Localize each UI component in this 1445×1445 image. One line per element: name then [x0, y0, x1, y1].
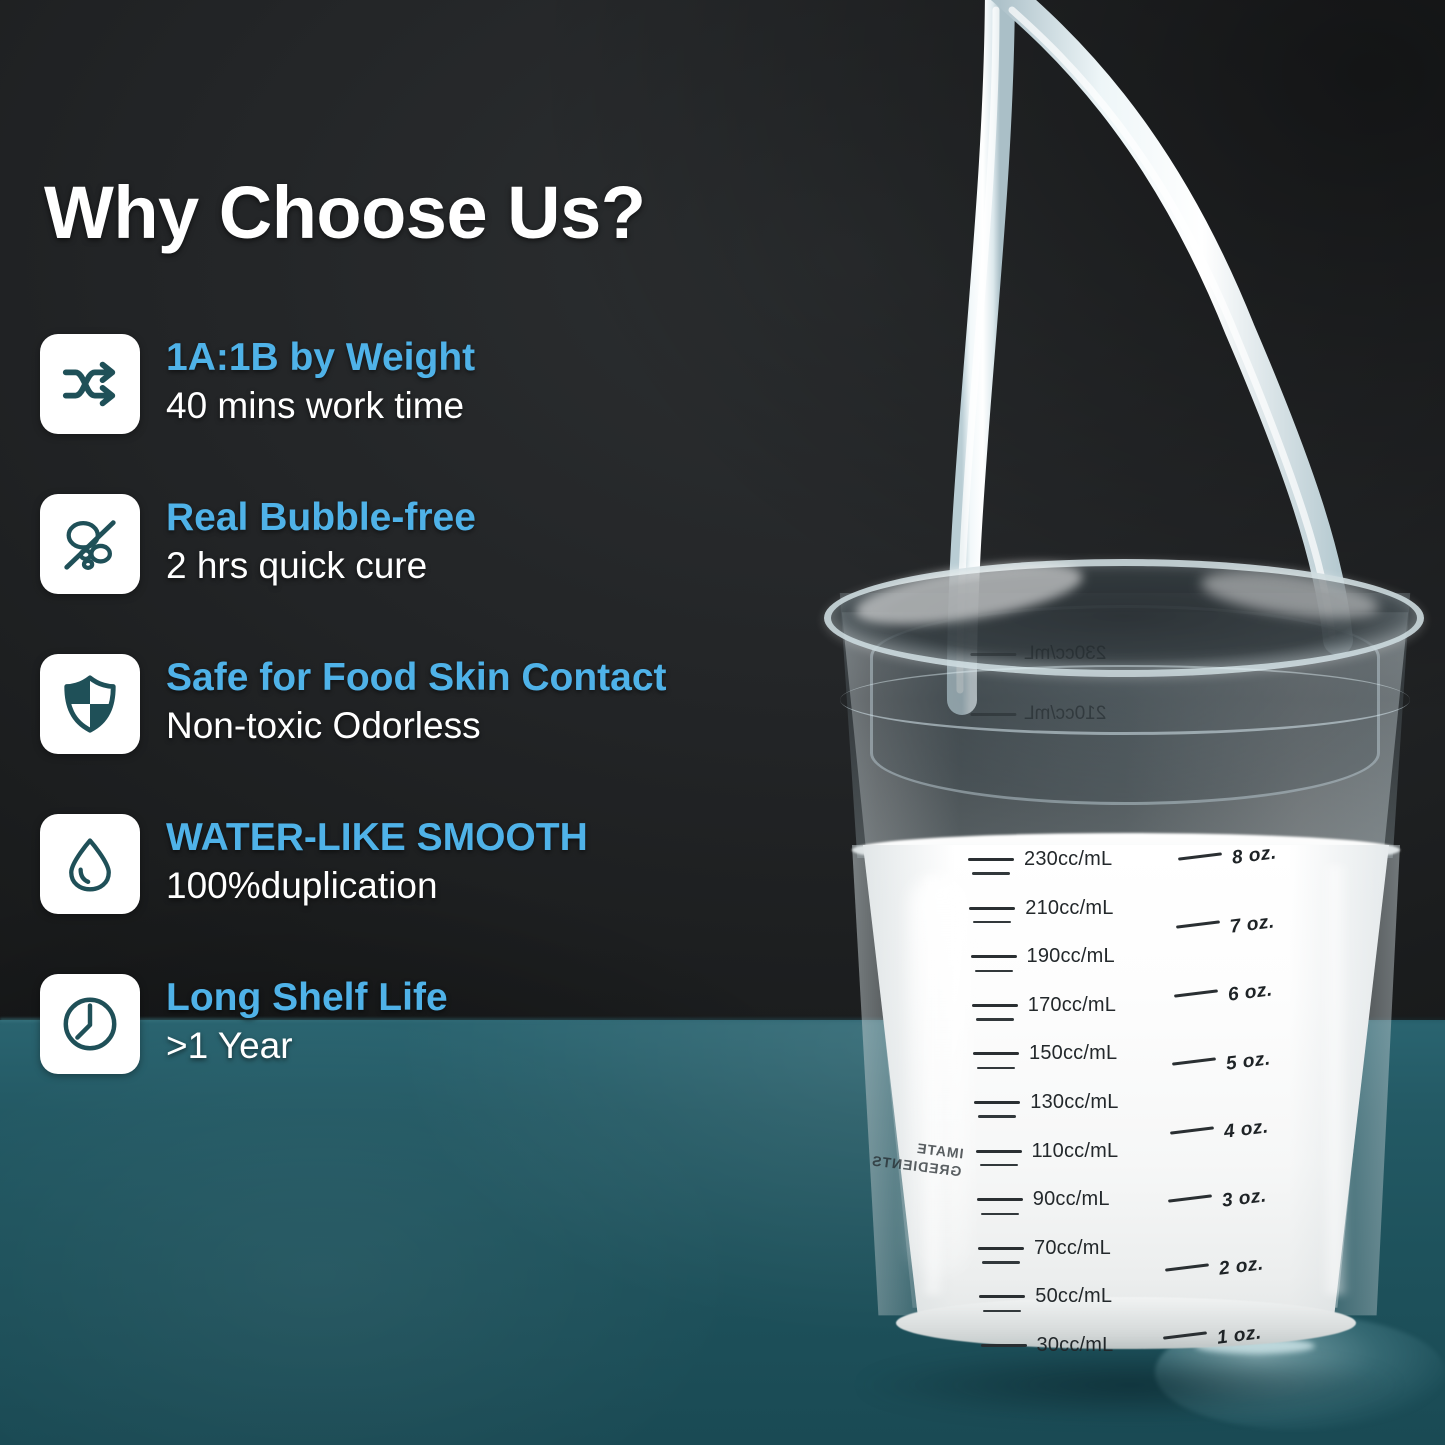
oz-tick — [1170, 1126, 1214, 1134]
oz-graduation-row: 8 oz. — [1178, 845, 1277, 867]
feature-item-4: WATER-LIKE SMOOTH100%duplication — [40, 814, 820, 974]
feature-subtitle-5: >1 Year — [166, 1024, 448, 1068]
oz-tick — [1167, 1194, 1211, 1202]
oz-tick — [1163, 1331, 1207, 1339]
oz-tick — [1165, 1263, 1209, 1271]
product-feature-image: 230cc/mL 210cc/mL IMATE GREDIENTS 230cc/… — [0, 0, 1445, 1445]
feature-subtitle-3: Non-toxic Odorless — [166, 704, 667, 748]
feature-text-2: Real Bubble-free2 hrs quick cure — [166, 494, 476, 588]
oz-graduation-row: 2 oz. — [1165, 1256, 1264, 1278]
oz-tick — [1176, 920, 1220, 928]
feature-title-5: Long Shelf Life — [166, 976, 448, 1021]
feature-title-2: Real Bubble-free — [166, 496, 476, 541]
clock-icon — [59, 993, 121, 1055]
oz-graduation-row: 5 oz. — [1172, 1051, 1271, 1073]
oz-tick — [1172, 1057, 1216, 1065]
water-drop-icon — [60, 834, 120, 894]
feature-item-1: 1A:1B by Weight40 mins work time — [40, 334, 820, 494]
feature-item-5: Long Shelf Life>1 Year — [40, 974, 820, 1134]
page-title: Why Choose Us? — [44, 170, 645, 255]
no-bubbles-icon — [59, 513, 121, 575]
feature-subtitle-1: 40 mins work time — [166, 384, 475, 428]
feature-title-1: 1A:1B by Weight — [166, 336, 475, 381]
oz-tick-label: 5 oz. — [1225, 1048, 1272, 1075]
feature-item-3: Safe for Food Skin ContactNon-toxic Odor… — [40, 654, 820, 814]
feature-title-4: WATER-LIKE SMOOTH — [166, 816, 588, 861]
feature-text-3: Safe for Food Skin ContactNon-toxic Odor… — [166, 654, 667, 748]
oz-tick-label: 2 oz. — [1218, 1253, 1265, 1280]
oz-graduation-row: 1 oz. — [1163, 1325, 1262, 1347]
shield-icon-card — [40, 654, 140, 754]
feature-item-2: Real Bubble-free2 hrs quick cure — [40, 494, 820, 654]
shuffle-icon — [59, 353, 121, 415]
feature-subtitle-2: 2 hrs quick cure — [166, 544, 476, 588]
oz-graduation-row: 3 oz. — [1168, 1188, 1267, 1210]
graduated-mixing-cup: 230cc/mL 210cc/mL IMATE GREDIENTS 230cc/… — [800, 545, 1445, 1375]
oz-graduation-row: 7 oz. — [1176, 914, 1275, 936]
feature-text-4: WATER-LIKE SMOOTH100%duplication — [166, 814, 588, 908]
oz-tick-label: 1 oz. — [1216, 1322, 1263, 1349]
oz-tick-label: 4 oz. — [1222, 1116, 1269, 1143]
feature-text-5: Long Shelf Life>1 Year — [166, 974, 448, 1068]
no-bubbles-icon-card — [40, 494, 140, 594]
feature-text-1: 1A:1B by Weight40 mins work time — [166, 334, 475, 428]
oz-graduation-row: 4 oz. — [1170, 1119, 1269, 1141]
feature-title-3: Safe for Food Skin Contact — [166, 656, 667, 701]
clock-icon-card — [40, 974, 140, 1074]
oz-tick-label: 3 oz. — [1220, 1185, 1267, 1212]
cup-contact-shadow — [860, 1350, 1400, 1420]
water-drop-icon-card — [40, 814, 140, 914]
oz-tick — [1178, 852, 1222, 860]
oz-tick — [1174, 989, 1218, 997]
oz-graduation-row: 6 oz. — [1174, 982, 1273, 1004]
feature-list: 1A:1B by Weight40 mins work time Real Bu… — [40, 334, 820, 1134]
oz-tick-label: 6 oz. — [1227, 979, 1274, 1006]
oz-tick-label: 8 oz. — [1231, 842, 1278, 869]
feature-subtitle-4: 100%duplication — [166, 864, 588, 908]
oz-graduation-scale: 8 oz.7 oz.6 oz.5 oz.4 oz.3 oz.2 oz.1 oz. — [800, 545, 1445, 1375]
shuffle-icon-card — [40, 334, 140, 434]
shield-icon — [59, 673, 121, 735]
oz-tick-label: 7 oz. — [1229, 911, 1276, 938]
